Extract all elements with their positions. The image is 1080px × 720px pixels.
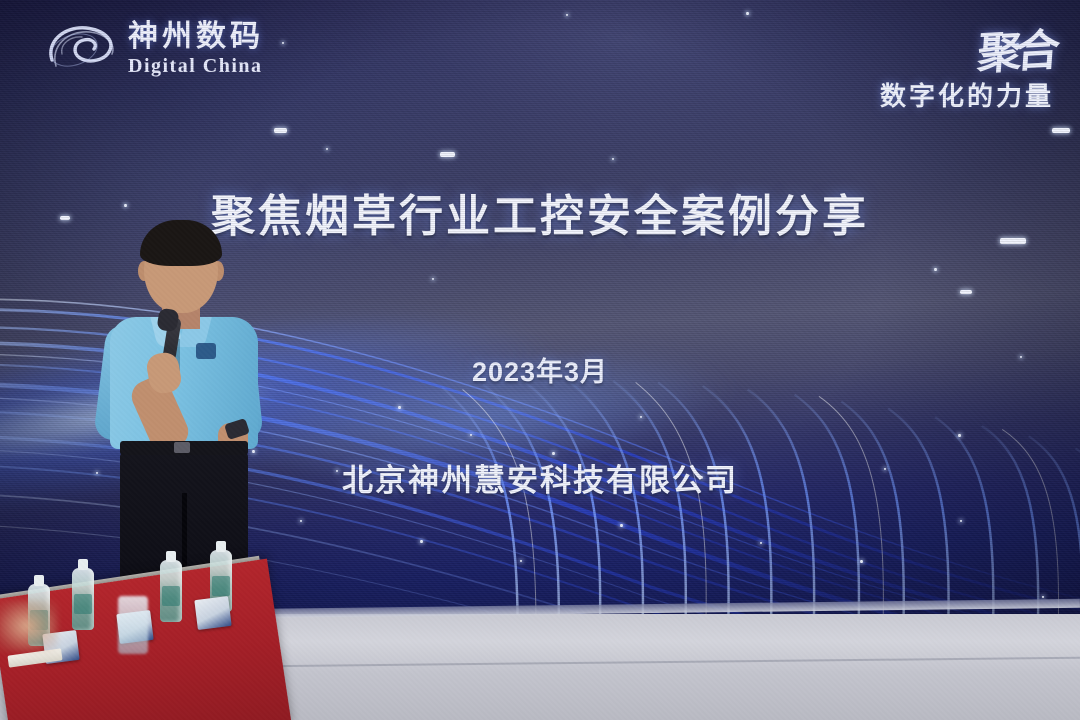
conference-stage-photo: 聚焦烟草行业工控安全案例分享 2023年3月 北京神州慧安科技有限公司 神州数码… bbox=[0, 0, 1080, 720]
light-particle bbox=[746, 12, 749, 15]
brand-name-en: Digital China bbox=[128, 56, 264, 76]
swirl-galaxy-icon bbox=[44, 20, 118, 78]
name-card bbox=[194, 596, 231, 630]
light-streak bbox=[274, 128, 287, 133]
brand-text: 神州数码 Digital China bbox=[128, 22, 264, 76]
light-particle bbox=[326, 148, 328, 150]
audience-hand bbox=[0, 600, 58, 652]
event-theme-mark: 聚合 数字化的力量 bbox=[880, 16, 1054, 113]
brand-logo: 神州数码 Digital China bbox=[44, 20, 264, 78]
light-particle bbox=[566, 14, 568, 16]
speaker-shirt-logo bbox=[196, 343, 216, 359]
light-particle bbox=[612, 158, 614, 160]
light-streak bbox=[1052, 128, 1070, 133]
speaker-hair bbox=[140, 220, 222, 266]
drinking-glass bbox=[118, 596, 148, 654]
speaker-belt-buckle bbox=[174, 442, 190, 453]
light-particle bbox=[934, 268, 937, 271]
event-subtitle: 数字化的力量 bbox=[880, 76, 1054, 113]
light-streak bbox=[440, 152, 455, 157]
event-calligraphy: 聚合 bbox=[976, 14, 1057, 82]
water-bottle bbox=[160, 560, 182, 622]
water-bottle bbox=[72, 568, 94, 630]
vertical-light-streams bbox=[432, 379, 1080, 632]
light-particle bbox=[282, 42, 284, 44]
brand-name-cn: 神州数码 bbox=[128, 22, 264, 52]
